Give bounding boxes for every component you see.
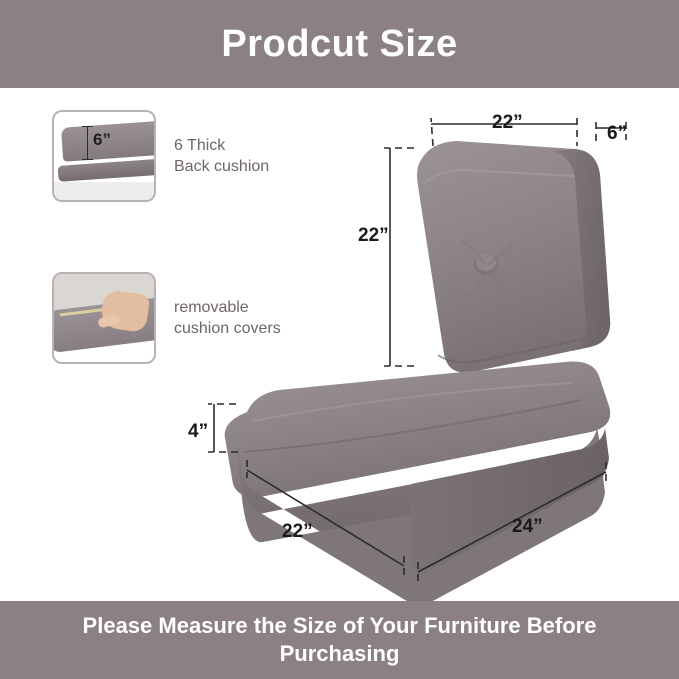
thumbnail-shadow <box>54 182 156 202</box>
dimension-seat-thickness-label: 4” <box>188 421 208 443</box>
header-band: Prodcut Size <box>0 0 679 88</box>
feature-removable-covers-text: removable cushion covers <box>174 297 281 339</box>
dimension-seat-width-label: 22” <box>282 521 313 543</box>
footer-band: Please Measure the Size of Your Furnitur… <box>0 601 679 679</box>
feature-back-cushion-thickness: 6” 6 Thick Back cushion <box>52 110 269 202</box>
dimension-seat-depth-label: 24” <box>512 516 543 538</box>
footer-line-1: Please Measure the Size of Your Furnitur… <box>83 612 597 640</box>
thumbnail-dimension-arrow-icon <box>87 126 88 160</box>
dimension-back-width-label: 22” <box>492 112 523 134</box>
feature-back-cushion-line1: 6 Thick <box>174 135 269 156</box>
thumbnail-thickness-label: 6” <box>93 130 111 150</box>
page-title: Prodcut Size <box>221 23 457 66</box>
back-cushion-thumbnail: 6” <box>52 110 156 202</box>
feature-removable-covers-line1: removable <box>174 297 281 318</box>
back-cushion-graphic <box>417 141 610 373</box>
removable-cover-thumbnail <box>52 272 156 364</box>
feature-back-cushion-line2: Back cushion <box>174 156 269 177</box>
feature-removable-covers: removable cushion covers <box>52 272 281 364</box>
seat-cushion-graphic <box>225 362 611 605</box>
thumbnail-cushion-base <box>58 158 156 182</box>
product-size-infographic: Prodcut Size <box>0 0 679 679</box>
footer-line-2: Purchasing <box>280 640 400 668</box>
feature-back-cushion-text: 6 Thick Back cushion <box>174 135 269 177</box>
feature-removable-covers-line2: cushion covers <box>174 318 281 339</box>
dimension-back-height-label: 22” <box>358 225 389 247</box>
dimension-back-thickness-label: 6” <box>607 123 627 145</box>
